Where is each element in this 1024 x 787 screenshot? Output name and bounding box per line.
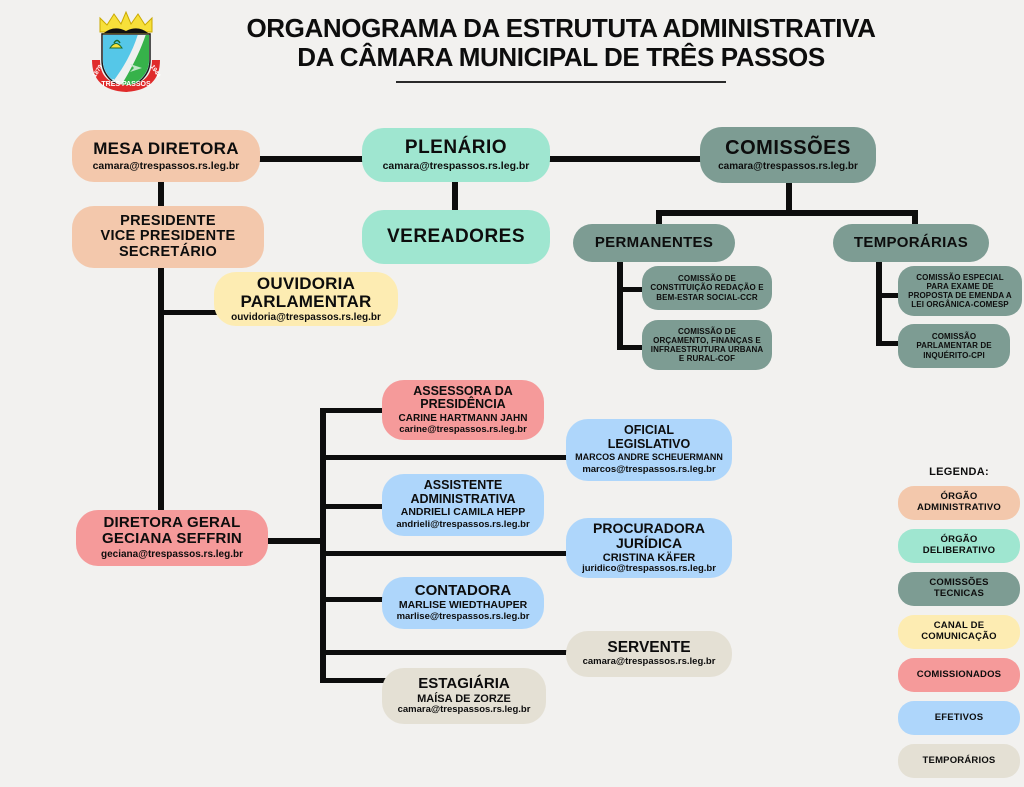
node-servente[interactable]: SERVENTE camara@trespassos.rs.leg.br [566,631,732,677]
connector-branch-servente [320,650,568,655]
node-assistente-line1: ASSISTENTE [424,479,503,492]
node-estagiaria-title: ESTAGIÁRIA [418,676,509,692]
organogram-canvas: TRÊS PASSOS 1879 1944 ORGANOGRAMA DA EST… [0,0,1024,768]
connector-presidente-ouvidoria [158,310,220,315]
node-oficial-line1: OFICIAL [624,424,674,437]
node-diretora-geral[interactable]: DIRETORA GERAL GECIANA SEFFRIN geciana@t… [76,510,268,566]
node-estagiaria[interactable]: ESTAGIÁRIA MAÍSA DE ZORZE camara@trespas… [382,668,546,724]
node-assessora-email: carine@trespassos.rs.leg.br [399,425,527,436]
node-plenario-title: PLENÁRIO [405,138,507,158]
node-ouvidoria-line2: PARLAMENTAR [241,293,372,311]
node-vereadores-title: VEREADORES [387,227,525,247]
node-presidente-line3: SECRETÁRIO [119,245,217,261]
node-permanentes-title: PERMANENTES [595,235,713,251]
node-procuradora-email: juridico@trespassos.rs.leg.br [582,564,716,575]
node-comissoes[interactable]: COMISSÕES camara@trespassos.rs.leg.br [700,127,876,183]
legend-item-orgao-administrativo: ÓRGÃO ADMINISTRATIVO [898,486,1020,520]
node-presidente-line1: PRESIDENTE [120,214,216,230]
connector-comissoes-stem [786,182,792,212]
node-presidente-line2: VICE PRESIDENTE [100,229,235,245]
node-comissao-ccr[interactable]: COMISSÃO DE CONSTITUIÇÃO REDAÇÃO E BEM-E… [642,266,772,310]
legend-item-label: EFETIVOS [935,713,984,724]
connector-main-spine [320,408,326,683]
connector-diretora-arm [268,538,326,544]
node-servente-title: SERVENTE [607,640,690,657]
legend-item-label: CANAL DE COMUNICAÇÃO [904,621,1014,643]
legend-item-label: ÓRGÃO DELIBERATIVO [904,535,1014,557]
node-presidente[interactable]: PRESIDENTE VICE PRESIDENTE SECRETÁRIO [72,206,264,268]
node-procuradora-line2: JURÍDICA [616,536,682,551]
node-temporarias[interactable]: TEMPORÁRIAS [833,224,989,262]
node-diretora-geral-line2: GECIANA SEFFRIN [102,531,242,547]
node-plenario-email: camara@trespassos.rs.leg.br [383,160,530,172]
node-comissao-cpi[interactable]: COMISSÃO PARLAMENTAR DE INQUÉRITO-CPI [898,324,1010,368]
legend-item-label: TEMPORÁRIOS [923,756,996,767]
crest-ribbon-text: TRÊS PASSOS [101,79,151,88]
page-title: ORGANOGRAMA DA ESTRUTUTA ADMINISTRATIVA … [176,14,946,83]
node-comissoes-email: camara@trespassos.rs.leg.br [718,161,858,173]
node-comissao-cpi-title: COMISSÃO PARLAMENTAR DE INQUÉRITO-CPI [906,332,1002,360]
connector-branch-procuradora [320,551,568,556]
node-assessora-line1: ASSESSORA DA [413,385,513,398]
node-mesa-diretora[interactable]: MESA DIRETORA camara@trespassos.rs.leg.b… [72,130,260,182]
node-oficial-email: marcos@trespassos.rs.leg.br [582,465,715,476]
node-comissao-cof[interactable]: COMISSÃO DE ORÇAMENTO, FINANÇAS E INFRAE… [642,320,772,370]
legend-item-comissoes-tecnicas: COMISSÕES TECNICAS [898,572,1020,606]
node-assessora-presidencia[interactable]: ASSESSORA DA PRESIDÊNCIA CARINE HARTMANN… [382,380,544,440]
legend-item-label: COMISSÕES TECNICAS [904,578,1014,600]
node-diretora-geral-email: geciana@trespassos.rs.leg.br [101,549,243,561]
connector-branch-assistente [320,504,388,509]
node-permanentes[interactable]: PERMANENTES [573,224,735,262]
connector-mesa-plenario [258,156,370,162]
legend-item-temporarios: TEMPORÁRIOS [898,744,1020,778]
connector-branch-assessora [320,408,388,413]
node-oficial-legislativo[interactable]: OFICIAL LEGISLATIVO MARCOS ANDRE SCHEUER… [566,419,732,481]
connector-comissoes-bus [656,210,918,216]
node-comissao-comesp-title: COMISSÃO ESPECIAL PARA EXAME DE PROPOSTA… [906,273,1014,310]
node-oficial-name: MARCOS ANDRE SCHEUERMANN [575,452,723,462]
connector-branch-estagiaria [320,678,388,683]
node-ouvidoria-line1: OUVIDORIA [257,275,355,293]
node-mesa-diretora-email: camara@trespassos.rs.leg.br [93,160,240,172]
connector-mesa-presidente [158,182,164,206]
node-servente-email: camara@trespassos.rs.leg.br [583,657,716,668]
legend-item-orgao-deliberativo: ÓRGÃO DELIBERATIVO [898,529,1020,563]
node-procuradora-line1: PROCURADORA [593,521,705,536]
node-assistente-line2: ADMINISTRATIVA [410,493,515,506]
legend-item-canal-comunicacao: CANAL DE COMUNICAÇÃO [898,615,1020,649]
node-temporarias-title: TEMPORÁRIAS [854,235,968,251]
node-assistente-name: ANDRIELI CAMILA HEPP [401,507,525,519]
legend-title: LEGENDA: [898,466,1020,478]
legend-item-efetivos: EFETIVOS [898,701,1020,735]
connector-temporarias-spine [876,260,882,345]
connector-branch-contadora [320,597,388,602]
node-oficial-line2: LEGISLATIVO [608,438,690,451]
page-title-line1: ORGANOGRAMA DA ESTRUTUTA ADMINISTRATIVA [176,14,946,43]
page-header: TRÊS PASSOS 1879 1944 ORGANOGRAMA DA EST… [0,0,1024,104]
node-comissao-cof-title: COMISSÃO DE ORÇAMENTO, FINANÇAS E INFRAE… [650,327,764,364]
node-comissao-comesp[interactable]: COMISSÃO ESPECIAL PARA EXAME DE PROPOSTA… [898,266,1022,316]
connector-presidente-spine [158,268,164,518]
node-contadora[interactable]: CONTADORA MARLISE WIEDTHAUPER marlise@tr… [382,577,544,629]
node-procuradora-juridica[interactable]: PROCURADORA JURÍDICA CRISTINA KÄFER juri… [566,518,732,578]
node-diretora-geral-line1: DIRETORA GERAL [104,515,241,531]
node-assessora-name: CARINE HARTMANN JAHN [399,413,528,424]
connector-branch-oficial [320,455,568,460]
page-title-line2: DA CÂMARA MUNICIPAL DE TRÊS PASSOS [176,43,946,72]
node-contadora-title: CONTADORA [415,583,511,599]
connector-permanentes-spine [617,260,623,350]
legend-panel: LEGENDA: ÓRGÃO ADMINISTRATIVO ÓRGÃO DELI… [898,466,1020,787]
node-mesa-diretora-title: MESA DIRETORA [93,140,239,158]
node-plenario[interactable]: PLENÁRIO camara@trespassos.rs.leg.br [362,128,550,182]
node-estagiaria-email: camara@trespassos.rs.leg.br [398,705,531,716]
connector-plenario-comissoes [548,156,704,162]
node-vereadores[interactable]: VEREADORES [362,210,550,264]
connector-plenario-vereadores [452,182,458,210]
node-comissoes-title: COMISSÕES [725,138,851,159]
node-assistente-email: andrieli@trespassos.rs.leg.br [396,520,529,531]
node-assessora-line2: PRESIDÊNCIA [420,398,505,411]
legend-item-comissionados: COMISSIONADOS [898,658,1020,692]
coat-of-arms-icon: TRÊS PASSOS 1879 1944 [78,2,174,94]
node-ouvidoria[interactable]: OUVIDORIA PARLAMENTAR ouvidoria@trespass… [214,272,398,326]
node-comissao-ccr-title: COMISSÃO DE CONSTITUIÇÃO REDAÇÃO E BEM-E… [650,274,764,302]
legend-item-label: COMISSIONADOS [917,670,1001,681]
node-ouvidoria-email: ouvidoria@trespassos.rs.leg.br [231,312,381,324]
title-underline [396,81,726,83]
node-assistente-administrativa[interactable]: ASSISTENTE ADMINISTRATIVA ANDRIELI CAMIL… [382,474,544,536]
node-contadora-email: marlise@trespassos.rs.leg.br [397,612,530,623]
legend-item-label: ÓRGÃO ADMINISTRATIVO [904,492,1014,514]
